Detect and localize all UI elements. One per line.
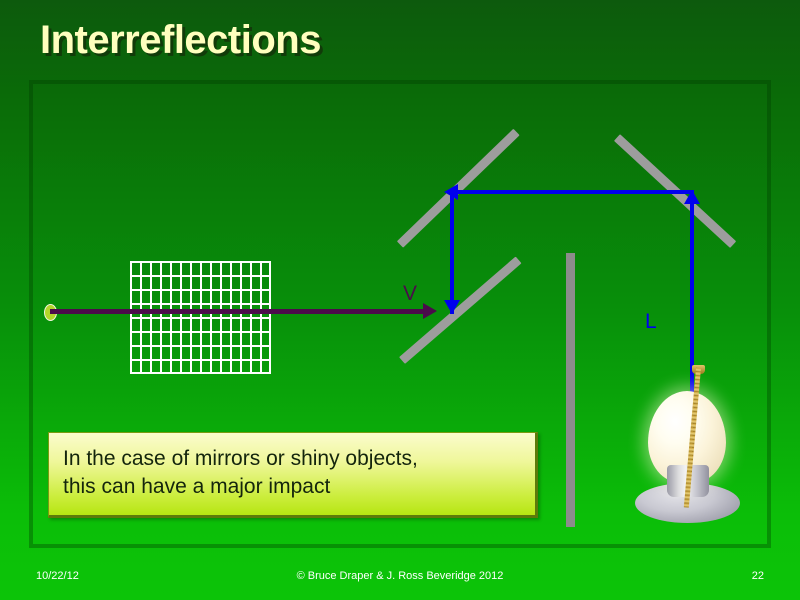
view-ray-arrowhead	[423, 303, 437, 319]
light-ray-arrowhead-left	[444, 184, 458, 200]
occluder-wall	[566, 253, 575, 527]
footer-page-number: 22	[0, 570, 764, 582]
sensor-grid	[130, 261, 271, 374]
caption-line-2: this can have a major impact	[63, 473, 521, 501]
view-ray-label: V	[403, 282, 417, 306]
light-ray-arrowhead-up	[684, 190, 700, 204]
presentation-slide: Interreflections V L	[0, 0, 800, 600]
caption-line-1: In the case of mirrors or shiny objects,	[63, 445, 521, 473]
view-ray-line	[50, 309, 432, 314]
light-bulb	[630, 365, 750, 530]
caption-box: In the case of mirrors or shiny objects,…	[48, 432, 538, 518]
mirror-upper-left	[397, 129, 520, 248]
light-ray-horizontal	[452, 190, 694, 194]
light-ray-vertical-left	[450, 192, 454, 314]
light-ray-arrowhead-down	[444, 300, 460, 314]
light-ray-label: L	[645, 310, 657, 334]
